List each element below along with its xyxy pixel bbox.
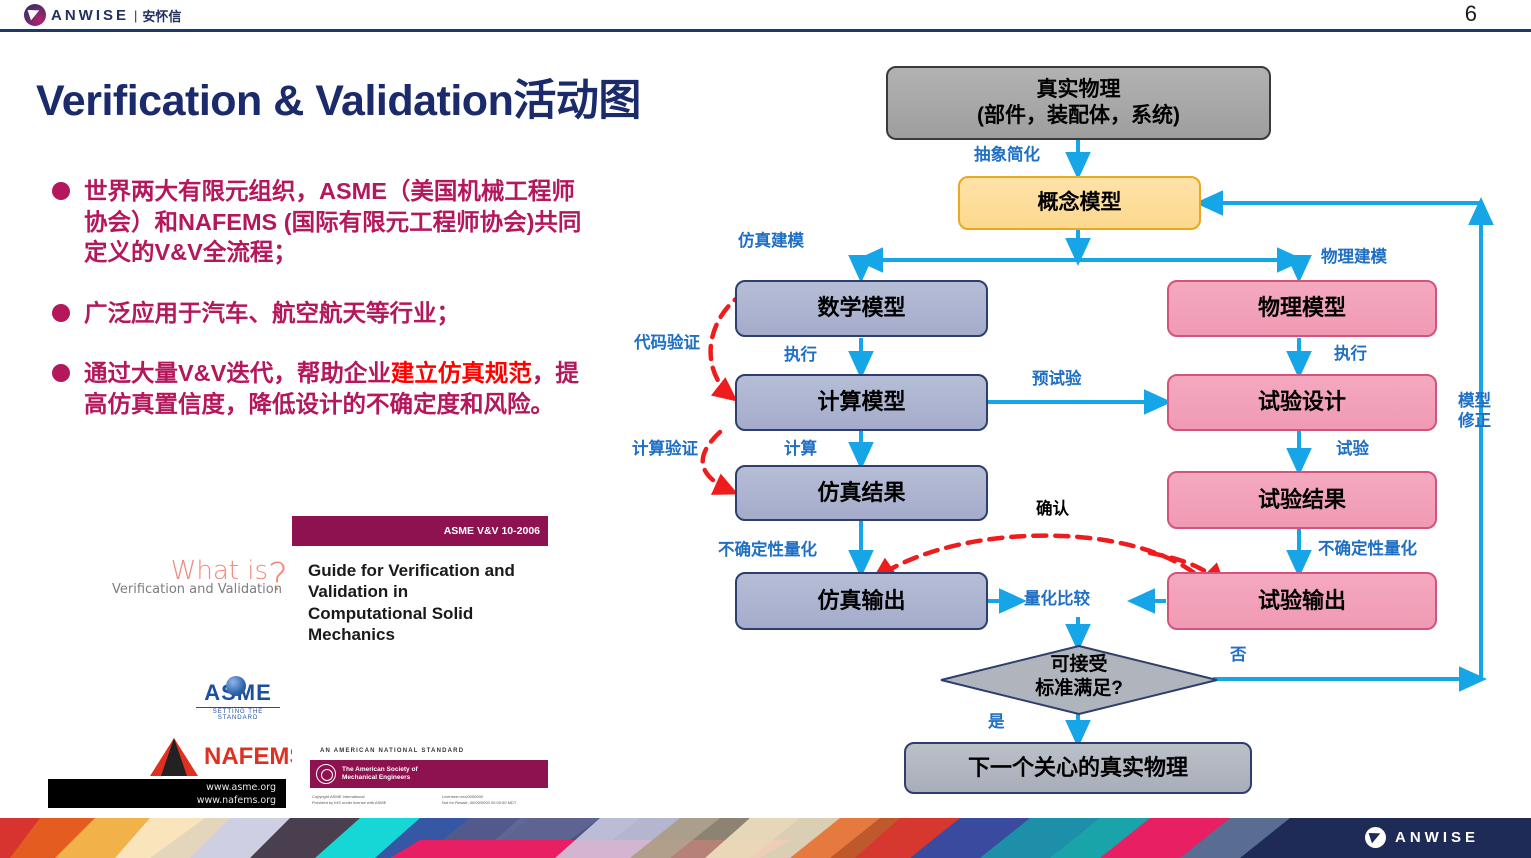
edge-label-pretest: 预试验 <box>1032 370 1082 390</box>
slide-footer: ANWISE <box>0 818 1531 858</box>
edge-label-uq-left: 不确定性量化 <box>718 541 817 561</box>
edge-label-calc-verify: 计算验证 <box>632 440 698 460</box>
node-test-design: 试验设计 <box>1167 374 1437 431</box>
node-test-result: 试验结果 <box>1167 471 1437 529</box>
edge-label-yes: 是 <box>988 713 1005 733</box>
node-calc-model: 计算模型 <box>735 374 988 431</box>
node-test-output: 试验输出 <box>1167 572 1437 630</box>
edge-label-validate: 确认 <box>1036 500 1069 520</box>
vv-activity-flowchart: 真实物理 (部件，装配体，系统) 概念模型 数学模型 物理模型 计算模型 试验设… <box>0 0 1531 820</box>
node-real-physics: 真实物理 (部件，装配体，系统) <box>886 66 1271 140</box>
edge-label-uq-right: 不确定性量化 <box>1318 540 1417 560</box>
edge-label-abstract: 抽象简化 <box>974 146 1040 166</box>
footer-brand-logo: ANWISE <box>1365 827 1479 848</box>
edge-label-exec-left: 执行 <box>784 346 817 366</box>
footer-brand-name: ANWISE <box>1395 829 1479 846</box>
anwise-bird-icon <box>1365 827 1386 848</box>
node-decision-label: 可接受 标准满足? <box>940 653 1218 701</box>
edge-label-model-fix: 模型 修正 <box>1458 392 1491 432</box>
edge-label-sim-modeling: 仿真建模 <box>738 232 804 252</box>
node-sim-result: 仿真结果 <box>735 465 988 521</box>
edge-label-quant-compare: 量化比较 <box>1024 590 1090 610</box>
node-decision: 可接受 标准满足? <box>940 645 1218 715</box>
node-concept-model: 概念模型 <box>958 176 1201 230</box>
edge-label-phy-modeling: 物理建模 <box>1321 248 1387 268</box>
node-sim-output: 仿真输出 <box>735 572 988 630</box>
node-physics-model: 物理模型 <box>1167 280 1437 337</box>
edge-label-no: 否 <box>1230 646 1247 666</box>
footer-pattern <box>0 818 1531 858</box>
node-next-physics: 下一个关心的真实物理 <box>904 742 1252 794</box>
edge-label-exec-right: 执行 <box>1334 345 1367 365</box>
edge-label-test: 试验 <box>1336 440 1369 460</box>
edge-label-code-verify: 代码验证 <box>634 334 700 354</box>
edge-label-compute: 计算 <box>784 440 817 460</box>
node-math-model: 数学模型 <box>735 280 988 337</box>
